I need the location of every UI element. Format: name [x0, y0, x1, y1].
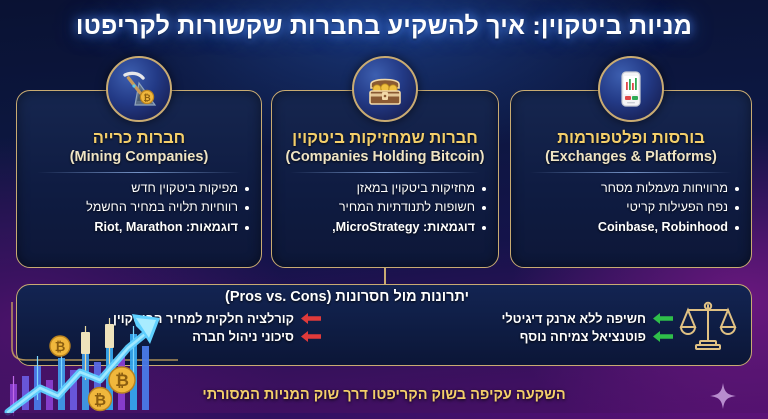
cons-text: סיכוני ניהול חברה — [192, 329, 294, 344]
bullet-dot — [482, 226, 486, 230]
list-item: מרוויחות מעמלות מסחר — [523, 179, 739, 199]
treasure-chest-icon — [352, 56, 418, 122]
bullet-text: מפיקות ביטקוין חדש — [131, 179, 238, 199]
bullet-dot — [245, 187, 249, 191]
card-title-he: חברות שמחזיקות ביטקוין — [272, 129, 498, 148]
card-bullet-list: מפיקות ביטקוין חדש רווחיות תלויה במחיר ה… — [17, 179, 261, 238]
list-item: חשופות לתנודתיות המחיר — [284, 198, 486, 218]
pros-item: פוטנציאל צמיחה נוסף — [501, 329, 673, 344]
bullet-text: מרוויחות מעמלות מסחר — [601, 179, 728, 199]
balance-scales-icon — [679, 297, 737, 358]
card-divider — [530, 172, 732, 173]
pros-column: חשיפה ללא ארנק דיגיטלי פוטנציאל צמיחה נו… — [501, 311, 673, 344]
pros-item: חשיפה ללא ארנק דיגיטלי — [501, 311, 673, 326]
pros-cons-columns: חשיפה ללא ארנק דיגיטלי פוטנציאל צמיחה נו… — [113, 311, 673, 344]
list-item: Coinbase, Robinhood — [523, 218, 739, 238]
bullet-dot — [482, 206, 486, 210]
svg-text:₿: ₿ — [143, 93, 150, 103]
bullet-dot — [245, 206, 249, 210]
card-title-en: (Exchanges & Platforms) — [511, 149, 751, 165]
footer-text: השקעה עקיפה בשוק הקריפטו דרך שוק המניות … — [202, 387, 565, 403]
card-divider — [37, 172, 242, 173]
main-title-bar: מניות ביטקוין: איך להשקיע בחברות שקשורות… — [0, 0, 768, 52]
bottom-strip — [0, 413, 768, 419]
list-item: נפח הפעילות קריטי — [523, 198, 739, 218]
card-mining-companies[interactable]: ₿ חברות כרייה (Mining Companies) מפיקות … — [16, 90, 262, 268]
card-divider — [290, 172, 480, 173]
pros-text: חשיפה ללא ארנק דיגיטלי — [501, 311, 646, 326]
bullet-dot — [735, 226, 739, 230]
bullet-dot — [735, 206, 739, 210]
bullet-text: חשופות לתנודתיות המחיר — [339, 198, 475, 218]
arrow-left-red-icon — [301, 312, 321, 325]
card-bullet-list: מרוויחות מעמלות מסחר נפח הפעילות קריטי C… — [511, 179, 751, 238]
arrow-left-red-icon — [301, 330, 321, 343]
card-title-en: (Companies Holding Bitcoin) — [272, 149, 498, 165]
card-title-he: בורסות ופלטפורמות — [511, 129, 751, 148]
card-exchanges-platforms[interactable]: בורסות ופלטפורמות (Exchanges & Platforms… — [510, 90, 752, 268]
bullet-dot — [245, 226, 249, 230]
bullet-text: דוגמאות: Riot, Marathon — [94, 218, 238, 238]
card-to-panel-connector — [384, 268, 386, 284]
bullet-text: נפח הפעילות קריטי — [626, 198, 728, 218]
card-bullet-list: מחזיקות ביטקוין במאזן חשופות לתנודתיות ה… — [272, 179, 498, 238]
category-cards-row: ₿ חברות כרייה (Mining Companies) מפיקות … — [0, 90, 768, 268]
bullet-dot — [735, 187, 739, 191]
card-companies-holding-bitcoin[interactable]: חברות שמחזיקות ביטקוין (Companies Holdin… — [271, 90, 499, 268]
arrow-left-green-icon — [653, 330, 673, 343]
list-item: דוגמאות: MicroStrategy, — [284, 218, 486, 238]
list-item: דוגמאות: Riot, Marathon — [29, 218, 249, 238]
card-title-en: (Mining Companies) — [17, 149, 261, 165]
bullet-dot — [482, 187, 486, 191]
bullet-text: Coinbase, Robinhood — [598, 218, 728, 238]
bullet-text: רווחיות תלויה במחיר החשמל — [86, 198, 238, 218]
arrow-left-green-icon — [653, 312, 673, 325]
list-item: רווחיות תלויה במחיר החשמל — [29, 198, 249, 218]
pickaxe-bitcoin-icon: ₿ — [106, 56, 172, 122]
bullet-text: מחזיקות ביטקוין במאזן — [357, 179, 475, 199]
svg-text:₿: ₿ — [55, 339, 66, 354]
bullet-text: דוגמאות: MicroStrategy, — [332, 218, 475, 238]
infographic-canvas: מניות ביטקוין: איך להשקיע בחברות שקשורות… — [0, 0, 768, 419]
card-title-he: חברות כרייה — [17, 129, 261, 148]
list-item: מפיקות ביטקוין חדש — [29, 179, 249, 199]
page-title: מניות ביטקוין: איך להשקיע בחברות שקשורות… — [76, 12, 692, 41]
pros-text: פוטנציאל צמיחה נוסף — [520, 329, 646, 344]
list-item: מחזיקות ביטקוין במאזן — [284, 179, 486, 199]
smartphone-chart-icon — [598, 56, 664, 122]
footer-caption: השקעה עקיפה בשוק הקריפטו דרך שוק המניות … — [0, 380, 768, 410]
